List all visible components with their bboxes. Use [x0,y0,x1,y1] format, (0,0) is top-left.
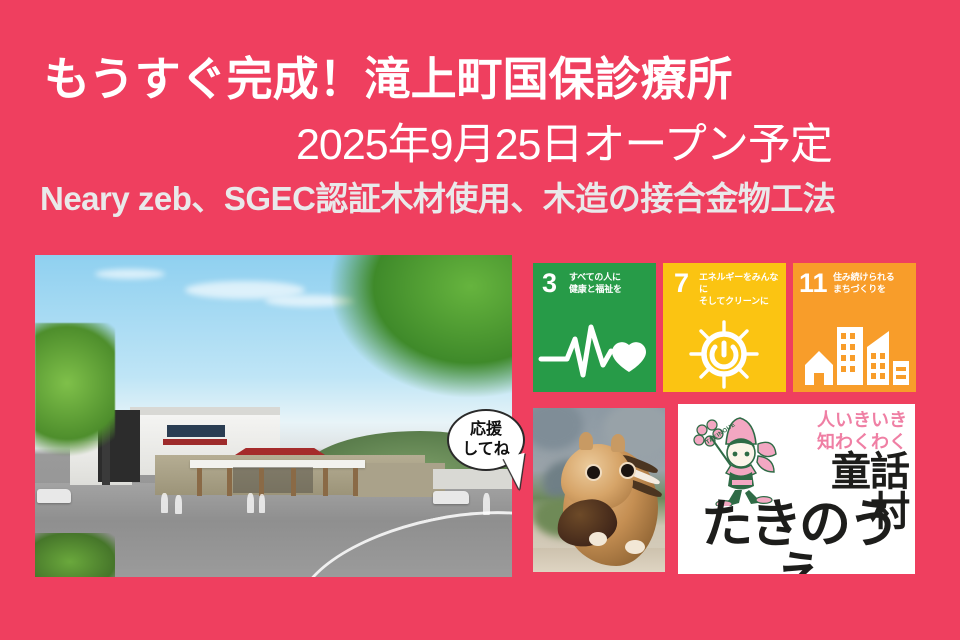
takinoue-logo-card: TAKINOUE 人いきいき 知わくわく 童話村 たきのうえ [678,404,915,574]
figure-silhouette [175,495,182,514]
sdg-number: 7 [674,270,689,297]
cloud-shape [95,269,165,279]
opening-date-title: 2025年9月25日オープン予定 [296,124,832,167]
sdg-label: エネルギーをみんなに そしてクリーンに [699,272,786,308]
page-title: もうすぐ完成！滝上町国保診療所 [44,56,733,102]
sdg-number: 11 [799,270,828,297]
canopy-column [353,468,358,496]
sdg-goal-7: 7 エネルギーをみんなに そしてクリーンに [663,263,786,392]
chipmunk-eye [587,466,600,479]
logo-slogan-line-1: 人いきいき [767,410,907,432]
sun-power-icon [663,317,786,392]
canopy-column [323,468,328,496]
foreground-tree-right [328,255,512,399]
speech-line-1: 応援 [470,420,502,440]
entrance-glazing [233,467,313,493]
window-band [167,425,225,437]
canopy-column [259,468,264,496]
logo-word-takinoue: たきのうえ [688,499,910,574]
speech-bubble: 応援 してね [447,409,525,471]
sdg-label: 住み続けられる まちづくりを [833,272,895,296]
heart-pulse-icon [533,317,656,392]
parked-car [433,491,469,504]
bokeh-shape [533,408,583,450]
chipmunk-paw [589,532,607,546]
figure-silhouette [259,494,265,513]
sdg-number: 3 [542,270,557,297]
chipmunk-paw [625,540,645,554]
city-buildings-icon [793,317,916,392]
features-subtitle: Neary zeb、SGEC認証木材使用、木造の接合金物工法 [40,182,835,215]
sdg-goal-11: 11 住み続けられる まちづくりを [793,263,916,392]
building-right-wing [355,463,445,497]
distant-wall [433,469,512,489]
canopy-column [291,468,296,496]
chipmunk-ear [579,432,593,450]
sdg-label: すべての人に 健康と福祉を [569,272,622,296]
parked-car [37,489,71,503]
chipmunk-eye [621,464,634,477]
speech-line-2: してね [462,440,510,460]
canopy-column [197,468,202,496]
chipmunk-ear [611,434,625,452]
foreground-tree-left [35,323,115,473]
figure-silhouette [247,493,254,513]
figure-silhouette [161,493,168,513]
logo-slogan: 人いきいき 知わくわく [767,410,907,454]
red-roof-accent [163,439,227,445]
chipmunk-photo [533,408,665,572]
figure-silhouette [483,493,490,515]
entrance-red-roof [235,448,325,455]
canopy-column [227,468,232,496]
sdg-goal-3: 3 すべての人に 健康と福祉を [533,263,656,392]
sdg-goal-row: 3 すべての人に 健康と福祉を 7 エネルギーをみんなに そしてクリーンに [533,263,916,392]
foreground-bush [35,533,115,577]
clinic-rendering [35,255,512,577]
